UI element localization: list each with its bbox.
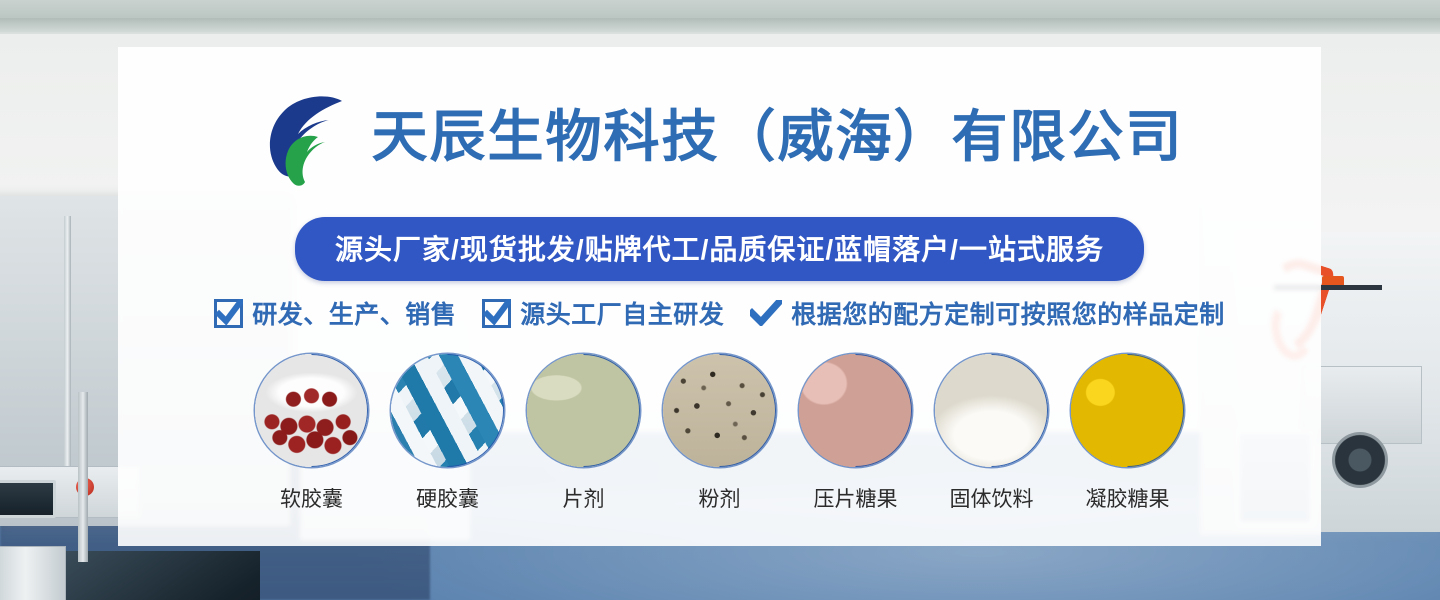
- exhaust-fan-icon: [1332, 432, 1388, 488]
- product-label: 压片糖果: [814, 483, 898, 513]
- left-machine-screen: [0, 480, 56, 518]
- product-label: 软胶囊: [280, 483, 343, 513]
- banner-stage: 天辰生物科技（威海）有限公司 源头厂家/现货批发/贴牌代工/品质保证/蓝帽落户/…: [0, 0, 1440, 600]
- product-item-powder[interactable]: 粉剂: [662, 354, 778, 513]
- product-item-solid-beverage[interactable]: 固体饮料: [934, 354, 1050, 513]
- soft-capsule-photo: [255, 354, 368, 467]
- product-list: 软胶囊 硬胶囊 片剂 粉剂: [118, 354, 1321, 513]
- slogan-banner-wrap: 源头厂家/现货批发/贴牌代工/品质保证/蓝帽落户/一站式服务: [118, 217, 1321, 281]
- product-label: 凝胶糖果: [1086, 483, 1170, 513]
- product-label: 粉剂: [699, 483, 741, 513]
- feature-item-rd-production-sales: 研发、生产、销售: [214, 295, 456, 331]
- feature-list: 研发、生产、销售 源头工厂自主研发 根据您的配方定制可按照您的样品定制: [118, 295, 1321, 331]
- solid-beverage-photo: [935, 354, 1048, 467]
- product-item-pressed-candy[interactable]: 压片糖果: [798, 354, 914, 513]
- checkmark-icon: [750, 300, 782, 326]
- feature-item-custom-formula: 根据您的配方定制可按照您的样品定制: [750, 295, 1225, 331]
- feature-label: 研发、生产、销售: [252, 295, 456, 331]
- feature-label: 根据您的配方定制可按照您的样品定制: [791, 295, 1225, 331]
- leaf-logo-icon: [256, 85, 352, 189]
- slogan-banner: 源头厂家/现货批发/贴牌代工/品质保证/蓝帽落户/一站式服务: [295, 217, 1144, 281]
- product-item-gummy-candy[interactable]: 凝胶糖果: [1070, 354, 1186, 513]
- left-machine-post: [78, 392, 88, 562]
- product-item-tablet[interactable]: 片剂: [526, 354, 642, 513]
- tablet-photo: [527, 354, 640, 467]
- left-machine-door: [0, 546, 66, 600]
- feature-item-own-factory-rd: 源头工厂自主研发: [482, 295, 724, 331]
- content-card: 天辰生物科技（威海）有限公司 源头厂家/现货批发/贴牌代工/品质保证/蓝帽落户/…: [118, 47, 1321, 546]
- checkbox-checked-icon: [482, 299, 511, 328]
- product-label: 硬胶囊: [416, 483, 479, 513]
- checkbox-checked-icon: [214, 299, 243, 328]
- product-label: 固体饮料: [950, 483, 1034, 513]
- hard-capsule-photo: [391, 354, 504, 467]
- company-title: 天辰生物科技（威海）有限公司: [372, 109, 1184, 165]
- pressed-candy-photo: [799, 354, 912, 467]
- ceiling-beam-shadow: [0, 18, 1440, 32]
- product-item-soft-capsule[interactable]: 软胶囊: [254, 354, 370, 513]
- product-item-hard-capsule[interactable]: 硬胶囊: [390, 354, 506, 513]
- product-label: 片剂: [563, 483, 605, 513]
- feature-label: 源头工厂自主研发: [520, 295, 724, 331]
- gummy-candy-photo: [1071, 354, 1184, 467]
- title-row: 天辰生物科技（威海）有限公司: [118, 85, 1321, 189]
- powder-photo: [663, 354, 776, 467]
